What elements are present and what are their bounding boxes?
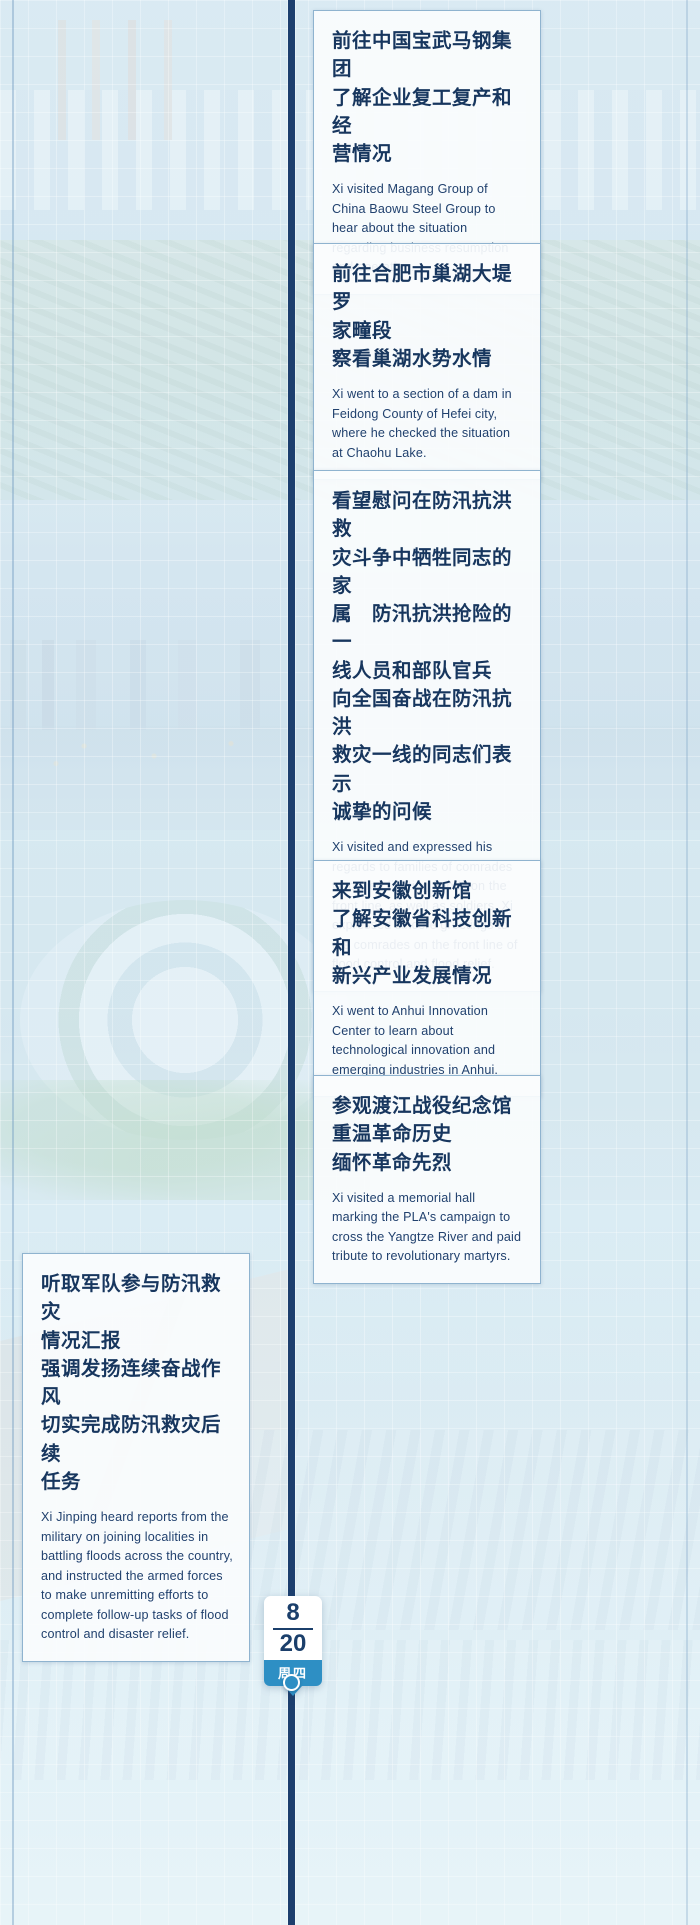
card-heading-line: 灾斗争中牺牲同志的家 [332, 544, 524, 601]
date-badge-month: 8 [264, 1600, 322, 1627]
card-heading-line: 来到安徽创新馆 [332, 877, 524, 905]
card-body-en: Xi Jinping heard reports from the milita… [41, 1508, 233, 1645]
card-heading-line: 看望慰问在防汛抗洪救 [332, 487, 524, 544]
card-heading-line: 前往中国宝武马钢集团 [332, 27, 524, 84]
card-heading-line: 察看巢湖水势水情 [332, 345, 524, 373]
card-heading-line: 参观渡江战役纪念馆 [332, 1092, 524, 1120]
card-heading-line: 切实完成防汛救灾后续 [41, 1411, 233, 1468]
card-chaohu-dam[interactable]: 前往合肥市巢湖大堤罗家疃段察看巢湖水势水情Xi went to a sectio… [313, 243, 541, 480]
card-military-report[interactable]: 听取军队参与防汛救灾情况汇报强调发扬连续奋战作风切实完成防汛救灾后续任务Xi J… [22, 1253, 250, 1662]
card-heading-line: 听取军队参与防汛救灾 [41, 1270, 233, 1327]
page-rule-left [12, 0, 14, 1925]
card-heading-line: 重温革命历史 [332, 1120, 524, 1148]
card-heading-cn: 听取军队参与防汛救灾情况汇报强调发扬连续奋战作风切实完成防汛救灾后续任务 [41, 1270, 233, 1496]
date-badge-day: 20 [264, 1631, 322, 1658]
card-memorial-hall[interactable]: 参观渡江战役纪念馆重温革命历史缅怀革命先烈Xi visited a memori… [313, 1075, 541, 1284]
card-heading-cn: 前往中国宝武马钢集团了解企业复工复产和经营情况 [332, 27, 524, 168]
card-heading-line: 强调发扬连续奋战作风 [41, 1355, 233, 1412]
card-body-en: Xi visited a memorial hall marking the P… [332, 1189, 524, 1267]
card-heading-cn: 来到安徽创新馆了解安徽省科技创新和新兴产业发展情况 [332, 877, 524, 990]
card-heading-line: 线人员和部队官兵 [332, 657, 524, 685]
card-heading-line: 家疃段 [332, 317, 524, 345]
card-heading-line: 新兴产业发展情况 [332, 962, 524, 990]
card-heading-line: 情况汇报 [41, 1327, 233, 1355]
card-heading-line: 任务 [41, 1468, 233, 1496]
background-photo-plaza [0, 1640, 700, 1925]
page-rule-right [686, 0, 688, 1925]
card-heading-line: 了解安徽省科技创新和 [332, 905, 524, 962]
card-heading-line: 向全国奋战在防汛抗洪 [332, 685, 524, 742]
timeline-marker-dot [283, 1674, 300, 1691]
card-anhui-innovation[interactable]: 来到安徽创新馆了解安徽省科技创新和新兴产业发展情况Xi went to Anhu… [313, 860, 541, 1097]
card-body-en: Xi went to Anhui Innovation Center to le… [332, 1002, 524, 1080]
card-heading-cn: 看望慰问在防汛抗洪救灾斗争中牺牲同志的家属 防汛抗洪抢险的一线人员和部队官兵向全… [332, 487, 524, 826]
card-heading-line: 缅怀革命先烈 [332, 1149, 524, 1177]
card-heading-cn: 参观渡江战役纪念馆重温革命历史缅怀革命先烈 [332, 1092, 524, 1177]
card-heading-line: 前往合肥市巢湖大堤罗 [332, 260, 524, 317]
card-heading-cn: 前往合肥市巢湖大堤罗家疃段察看巢湖水势水情 [332, 260, 524, 373]
card-heading-line: 诚挚的问候 [332, 798, 524, 826]
card-heading-line: 营情况 [332, 140, 524, 168]
card-heading-line: 了解企业复工复产和经 [332, 84, 524, 141]
card-heading-line: 救灾一线的同志们表示 [332, 741, 524, 798]
card-heading-line: 属 防汛抗洪抢险的一 [332, 600, 524, 657]
date-badge-box: 8 20 [264, 1596, 322, 1660]
card-body-en: Xi went to a section of a dam in Feidong… [332, 385, 524, 463]
